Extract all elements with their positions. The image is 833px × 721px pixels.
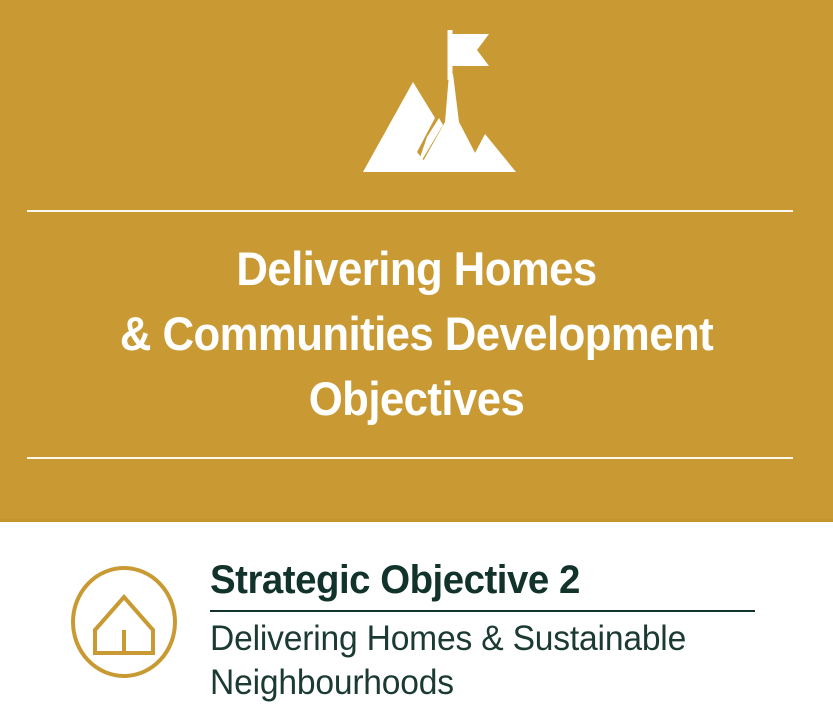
objective-text-block: Strategic Objective 2 Delivering Homes &… (210, 558, 810, 705)
page-title: Delivering Homes & Communities Developme… (42, 236, 791, 431)
house-in-circle-icon (66, 564, 182, 680)
objective-heading: Strategic Objective 2 (210, 558, 786, 602)
slide-page: Delivering Homes & Communities Developme… (0, 0, 833, 721)
mountain-with-flag-icon (0, 22, 833, 187)
objective-section: Strategic Objective 2 Delivering Homes &… (0, 522, 833, 721)
objective-subtitle: Delivering Homes & Sustainable Neighbour… (210, 617, 786, 705)
banner-divider-bottom (27, 457, 793, 459)
objective-divider (210, 610, 755, 612)
banner-divider-top (27, 210, 793, 212)
header-banner: Delivering Homes & Communities Developme… (0, 0, 833, 520)
